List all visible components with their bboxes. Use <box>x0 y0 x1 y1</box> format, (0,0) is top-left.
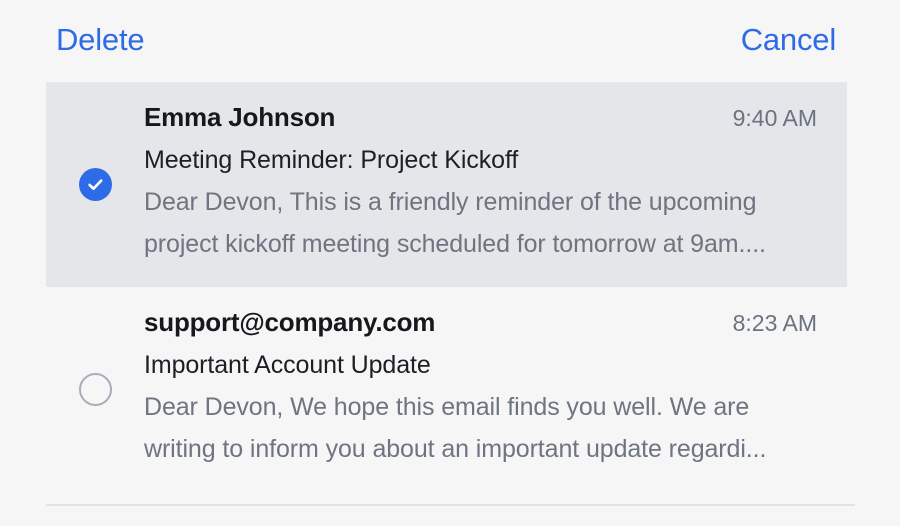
email-timestamp: 9:40 AM <box>733 103 817 133</box>
email-sender: support@company.com <box>144 305 435 339</box>
selection-toggle-cell[interactable] <box>46 100 144 265</box>
delete-button[interactable]: Delete <box>56 20 144 60</box>
email-header-line: support@company.com 8:23 AM <box>144 305 817 339</box>
email-subject: Meeting Reminder: Project Kickoff <box>144 144 817 177</box>
email-content: support@company.com 8:23 AM Important Ac… <box>144 305 847 470</box>
circle-outline-icon[interactable] <box>79 373 112 406</box>
email-preview: Dear Devon, This is a friendly reminder … <box>144 181 809 265</box>
check-circle-filled-icon[interactable] <box>79 168 112 201</box>
selection-toggle-cell[interactable] <box>46 305 144 470</box>
email-content: Emma Johnson 9:40 AM Meeting Reminder: P… <box>144 100 847 265</box>
email-sender: Emma Johnson <box>144 100 335 134</box>
email-header-line: Emma Johnson 9:40 AM <box>144 100 817 134</box>
list-divider <box>46 504 855 506</box>
email-list: Emma Johnson 9:40 AM Meeting Reminder: P… <box>0 82 900 492</box>
email-list-item[interactable]: Emma Johnson 9:40 AM Meeting Reminder: P… <box>46 82 847 287</box>
email-list-item[interactable]: support@company.com 8:23 AM Important Ac… <box>46 287 847 492</box>
email-preview: Dear Devon, We hope this email finds you… <box>144 386 809 470</box>
email-selection-screen: Delete Cancel Emma Johnson 9:40 AM Meeti… <box>0 0 900 526</box>
action-bar: Delete Cancel <box>0 0 900 82</box>
cancel-button[interactable]: Cancel <box>741 20 836 60</box>
email-timestamp: 8:23 AM <box>733 308 817 338</box>
email-subject: Important Account Update <box>144 349 817 382</box>
